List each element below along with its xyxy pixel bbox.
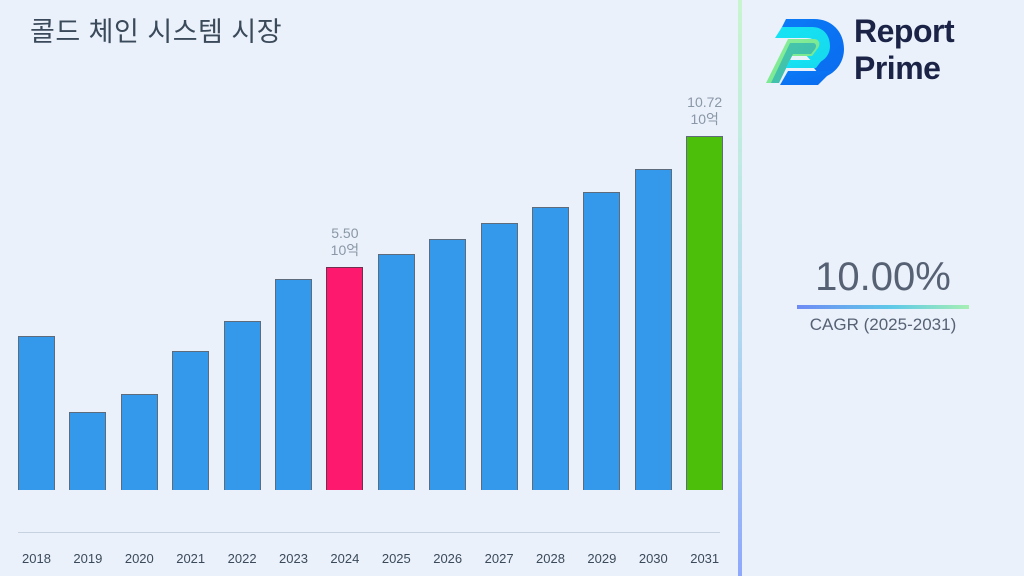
report-prime-logo: Report Prime [766, 10, 1006, 92]
bar-value-label-2024: 5.5010억 [331, 225, 359, 259]
bar-rect-2025[interactable] [378, 254, 415, 490]
plot-area: 5.5010억10.7210억 [0, 0, 739, 533]
x-tick-2019: 2019 [73, 551, 102, 566]
bar-rect-2022[interactable] [224, 321, 261, 490]
bar-rect-2019[interactable] [69, 412, 106, 490]
x-tick-2025: 2025 [382, 551, 411, 566]
bar-value-unit-2024: 10억 [331, 242, 359, 259]
bar-rect-2030[interactable] [635, 169, 672, 490]
logo-line-1: Report [854, 13, 954, 50]
cagr-caption: CAGR (2025-2031) [742, 314, 1024, 336]
x-tick-2022: 2022 [228, 551, 257, 566]
side-panel: Report Prime 10.00% CAGR (2025-2031) [742, 0, 1024, 576]
x-tick-2018: 2018 [22, 551, 51, 566]
x-tick-2023: 2023 [279, 551, 308, 566]
x-tick-2026: 2026 [433, 551, 462, 566]
x-tick-2030: 2030 [639, 551, 668, 566]
bar-value-number-2024: 5.50 [331, 225, 359, 242]
x-tick-2031: 2031 [690, 551, 719, 566]
logo-line-2: Prime [854, 50, 954, 87]
bar-rect-2029[interactable] [583, 192, 620, 490]
x-tick-2021: 2021 [176, 551, 205, 566]
cagr-divider-rule [797, 305, 969, 309]
chart-page: 콜드 체인 시스템 시장 5.5010억10.7210억 20182019202… [0, 0, 1024, 576]
bar-rect-2028[interactable] [532, 207, 569, 490]
bar-value-unit-2031: 10억 [687, 111, 722, 128]
bar-rect-2027[interactable] [481, 223, 518, 490]
x-tick-2024: 2024 [330, 551, 359, 566]
bar-value-label-2031: 10.7210억 [687, 94, 722, 128]
logo-wordmark: Report Prime [854, 13, 954, 87]
bar-rect-2018[interactable] [18, 336, 55, 490]
cagr-value: 10.00% [742, 253, 1024, 301]
bar-rect-2026[interactable] [429, 239, 466, 490]
x-tick-2029: 2029 [587, 551, 616, 566]
chart-panel: 콜드 체인 시스템 시장 5.5010억10.7210억 20182019202… [0, 0, 739, 576]
bar-value-number-2031: 10.72 [687, 94, 722, 111]
axis-baseline [18, 532, 720, 533]
bar-rect-2021[interactable] [172, 351, 209, 490]
x-tick-2028: 2028 [536, 551, 565, 566]
x-tick-2020: 2020 [125, 551, 154, 566]
x-tick-2027: 2027 [485, 551, 514, 566]
bar-rect-2020[interactable] [121, 394, 158, 490]
bar-rect-2024[interactable] [326, 267, 363, 490]
bar-rect-2023[interactable] [275, 279, 312, 490]
report-prime-logo-mark-icon [766, 13, 846, 89]
cagr-block: 10.00% CAGR (2025-2031) [742, 253, 1024, 336]
bar-rect-2031[interactable] [686, 136, 723, 490]
